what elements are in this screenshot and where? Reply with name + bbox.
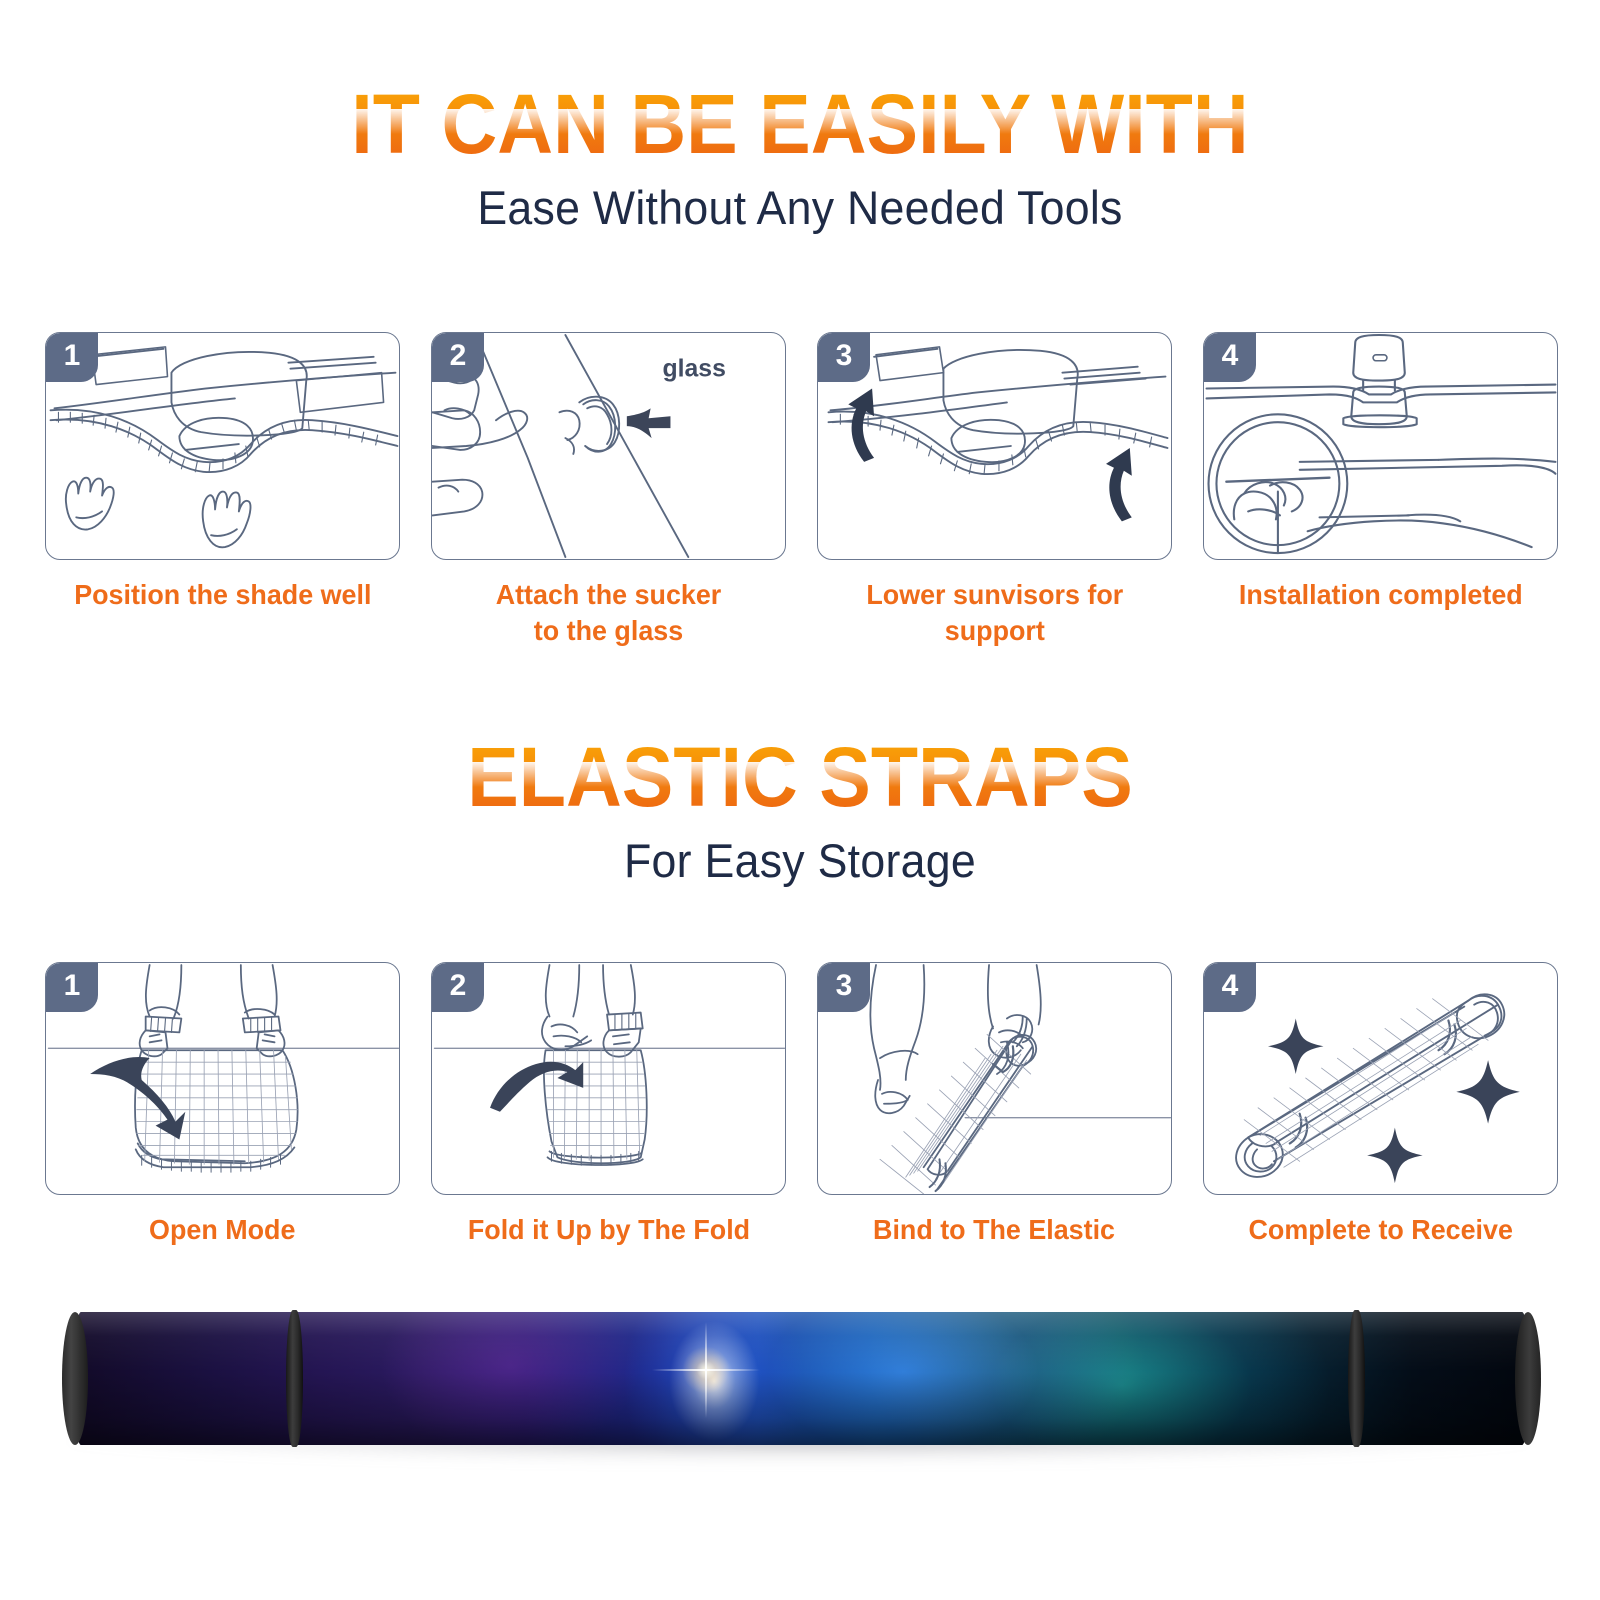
- step-card-install-3: 3: [817, 332, 1172, 649]
- star-burst-icon: [704, 1368, 708, 1372]
- step-card-storage-2: 2: [431, 962, 786, 1248]
- hands-holding-open-shade-icon: [46, 963, 399, 1194]
- step-number-badge: 1: [46, 963, 98, 1012]
- step-card-storage-1: 1: [45, 962, 400, 1248]
- product-photo-rolled-sunshade: [48, 1308, 1553, 1458]
- step-illustration-panel: 4: [1203, 962, 1558, 1195]
- installation-heading-block: IT CAN BE EASILY WITH Ease Without Any N…: [0, 82, 1600, 235]
- section-title-installation: IT CAN BE EASILY WITH: [64, 82, 1536, 166]
- step-caption: Open Mode: [149, 1212, 295, 1248]
- section-title-storage: ELASTIC STRAPS: [64, 735, 1536, 819]
- step-caption: Attach the sucker to the glass: [496, 577, 722, 649]
- storage-heading-block: ELASTIC STRAPS For Easy Storage: [0, 735, 1600, 888]
- car-windshield-with-hands-icon: [46, 333, 399, 559]
- step-card-install-4: 4: [1203, 332, 1558, 649]
- step-caption: Position the shade well: [74, 577, 371, 613]
- installation-steps-row: 1: [45, 332, 1555, 649]
- step-card-install-1: 1: [45, 332, 400, 649]
- step-illustration-panel: 1: [45, 962, 400, 1195]
- step-caption: Bind to The Elastic: [874, 1212, 1116, 1248]
- step-illustration-panel: 2: [431, 962, 786, 1195]
- step-illustration-panel: 4: [1203, 332, 1558, 560]
- product-infographic-page: IT CAN BE EASILY WITH Ease Without Any N…: [0, 0, 1600, 1600]
- windshield-with-sunvisor-arrows-icon: [818, 333, 1171, 559]
- step-number-badge: 2: [432, 333, 484, 382]
- car-interior-steering-wheel-mirror-icon: [1204, 333, 1557, 559]
- step-number-badge: 2: [432, 963, 484, 1012]
- step-number-badge: 1: [46, 333, 98, 382]
- step-caption: Fold it Up by The Fold: [467, 1212, 749, 1248]
- storage-steps-row: 1: [45, 962, 1555, 1248]
- glass-label: glass: [663, 356, 726, 383]
- step-card-storage-3: 3: [817, 962, 1172, 1248]
- step-illustration-panel: 1: [45, 332, 400, 560]
- step-card-install-2: 2: [431, 332, 786, 649]
- step-card-storage-4: 4: [1203, 962, 1558, 1248]
- step-number-badge: 4: [1204, 333, 1256, 382]
- roll-end-cap-left: [62, 1312, 88, 1445]
- hand-binding-rolled-shade-with-elastic-icon: [818, 963, 1171, 1194]
- step-illustration-panel: 3: [817, 332, 1172, 560]
- elastic-strap-left: [286, 1310, 303, 1447]
- roll-end-cap-right: [1515, 1312, 1541, 1445]
- step-caption: Complete to Receive: [1248, 1212, 1512, 1248]
- rolled-shade-with-sparkles-icon: [1204, 963, 1557, 1194]
- step-number-badge: 3: [818, 333, 870, 382]
- step-illustration-panel: 3: [817, 962, 1172, 1195]
- step-caption: Lower sunvisors for support: [866, 577, 1123, 649]
- hand-pressing-suction-cup-on-glass-icon: glass: [432, 333, 785, 559]
- hands-folding-shade-icon: [432, 963, 785, 1194]
- step-illustration-panel: 2: [431, 332, 786, 560]
- step-number-badge: 3: [818, 963, 870, 1012]
- section-subtitle-storage: For Easy Storage: [40, 833, 1560, 888]
- section-subtitle-installation: Ease Without Any Needed Tools: [40, 180, 1560, 235]
- step-caption: Installation completed: [1239, 577, 1523, 613]
- elastic-strap-right: [1348, 1310, 1365, 1447]
- step-number-badge: 4: [1204, 963, 1256, 1012]
